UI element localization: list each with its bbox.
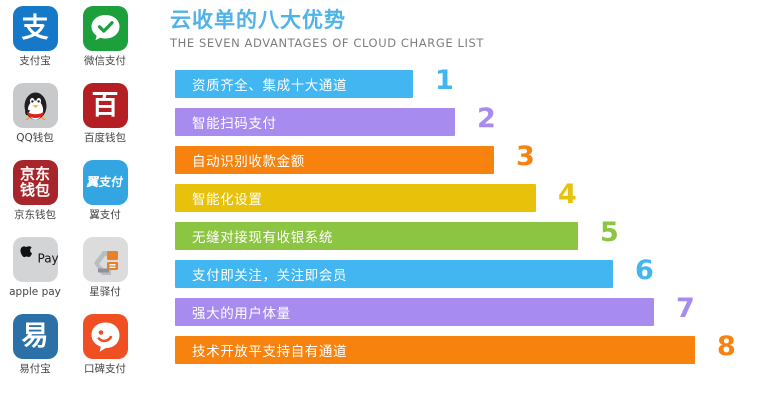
yifubao-glyph-icon: 易 <box>22 323 49 351</box>
advantage-rank-number: 5 <box>600 219 619 246</box>
advantage-bar: 资质齐全、集成十大通道 <box>175 70 413 98</box>
apple-pay-glyph-icon: Pay <box>13 237 58 282</box>
advantage-bar-row: 技术开放平支持自有通道8 <box>175 336 765 364</box>
payment-icon-label: 微信支付 <box>84 56 126 68</box>
advantage-bar-label: 无缝对接现有收银系统 <box>192 226 333 246</box>
payment-icon-koubei-pay[interactable]: 口碑支付 <box>70 314 140 391</box>
payment-icon-qq-wallet[interactable]: QQ钱包 <box>0 83 70 160</box>
payment-icon-jd-wallet[interactable]: 京东钱包京东钱包 <box>0 160 70 237</box>
advantage-bar-label: 自动识别收款金额 <box>192 150 305 170</box>
yifubao-tile[interactable]: 易 <box>13 314 58 359</box>
advantage-rank-number: 6 <box>635 257 654 284</box>
payment-icon-label: QQ钱包 <box>16 133 54 145</box>
advantage-rank-number: 1 <box>435 67 454 94</box>
advantage-bar-row: 无缝对接现有收银系统5 <box>175 222 765 250</box>
baidu-wallet-glyph-icon: 百 <box>92 92 119 120</box>
advantage-bar: 智能扫码支付 <box>175 108 455 136</box>
jd-wallet-glyph-icon: 京东钱包 <box>20 167 50 198</box>
advantage-bar: 无缝对接现有收银系统 <box>175 222 578 250</box>
qq-wallet-tile[interactable] <box>13 83 58 128</box>
yi-pay-tile[interactable]: 翼支付 <box>83 160 128 205</box>
payment-method-icon-grid: 支支付宝微信支付QQ钱包百百度钱包京东钱包京东钱包翼支付翼支付Payapple … <box>0 0 140 408</box>
advantage-rank-number: 2 <box>477 105 496 132</box>
wechat-pay-tile[interactable] <box>83 6 128 51</box>
baidu-wallet-tile[interactable]: 百 <box>83 83 128 128</box>
yi-pay-glyph-icon: 翼支付 <box>86 176 124 188</box>
wechat-pay-glyph-icon <box>83 6 128 51</box>
payment-icon-label: 星驿付 <box>89 287 121 299</box>
advantage-bar-row: 智能扫码支付2 <box>175 108 765 136</box>
koubei-pay-glyph-icon <box>83 314 128 359</box>
jd-wallet-tile[interactable]: 京东钱包 <box>13 160 58 205</box>
alipay-glyph-icon: 支 <box>22 15 49 43</box>
advantage-rank-number: 8 <box>717 333 736 360</box>
advantage-bar: 技术开放平支持自有通道 <box>175 336 695 364</box>
payment-icon-label: 翼支付 <box>89 210 121 222</box>
advantage-bar: 智能化设置 <box>175 184 536 212</box>
payment-icon-apple-pay[interactable]: Payapple pay <box>0 237 70 314</box>
advantage-rank-number: 3 <box>516 143 535 170</box>
apple-pay-tile[interactable]: Pay <box>13 237 58 282</box>
advantage-bar-label: 智能扫码支付 <box>192 112 277 132</box>
payment-icon-label: 百度钱包 <box>84 133 126 145</box>
advantages-bar-chart: 资质齐全、集成十大通道1智能扫码支付2自动识别收款金额3智能化设置4无缝对接现有… <box>175 70 765 374</box>
advantage-bar-row: 智能化设置4 <box>175 184 765 212</box>
payment-icon-label: 口碑支付 <box>84 364 126 376</box>
advantage-rank-number: 4 <box>558 181 577 208</box>
advantage-bar-row: 自动识别收款金额3 <box>175 146 765 174</box>
advantage-bar-row: 支付即关注，关注即会员6 <box>175 260 765 288</box>
advantage-bar-label: 强大的用户体量 <box>192 302 291 322</box>
payment-icon-yi-pay[interactable]: 翼支付翼支付 <box>70 160 140 237</box>
page-title: 云收单的八大优势 <box>170 8 750 32</box>
xingyi-pay-tile[interactable] <box>83 237 128 282</box>
advantage-bar-label: 智能化设置 <box>192 188 263 208</box>
payment-icon-alipay[interactable]: 支支付宝 <box>0 6 70 83</box>
xingyi-pay-glyph-icon <box>83 237 128 282</box>
advantage-bar-label: 资质齐全、集成十大通道 <box>192 74 347 94</box>
advantage-bar-row: 资质齐全、集成十大通道1 <box>175 70 765 98</box>
header: 云收单的八大优势 THE SEVEN ADVANTAGES OF CLOUD C… <box>170 8 750 50</box>
svg-text:Pay: Pay <box>37 252 58 266</box>
payment-icon-yifubao[interactable]: 易易付宝 <box>0 314 70 391</box>
advantage-bar-label: 技术开放平支持自有通道 <box>192 340 347 360</box>
advantage-rank-number: 7 <box>676 295 695 322</box>
payment-icon-label: 京东钱包 <box>14 210 56 222</box>
qq-wallet-glyph-icon <box>13 83 58 128</box>
payment-icon-label: 支付宝 <box>19 56 51 68</box>
advantage-bar: 强大的用户体量 <box>175 298 654 326</box>
payment-icon-wechat-pay[interactable]: 微信支付 <box>70 6 140 83</box>
payment-icon-label: apple pay <box>9 287 61 299</box>
advantage-bar: 支付即关注，关注即会员 <box>175 260 613 288</box>
payment-icon-xingyi-pay[interactable]: 星驿付 <box>70 237 140 314</box>
payment-icon-label: 易付宝 <box>19 364 51 376</box>
payment-icon-baidu-wallet[interactable]: 百百度钱包 <box>70 83 140 160</box>
page-subtitle: THE SEVEN ADVANTAGES OF CLOUD CHARGE LIS… <box>170 36 750 50</box>
advantage-bar-label: 支付即关注，关注即会员 <box>192 264 347 284</box>
advantage-bar: 自动识别收款金额 <box>175 146 494 174</box>
alipay-tile[interactable]: 支 <box>13 6 58 51</box>
advantage-bar-row: 强大的用户体量7 <box>175 298 765 326</box>
koubei-pay-tile[interactable] <box>83 314 128 359</box>
slide-canvas: 支支付宝微信支付QQ钱包百百度钱包京东钱包京东钱包翼支付翼支付Payapple … <box>0 0 771 408</box>
